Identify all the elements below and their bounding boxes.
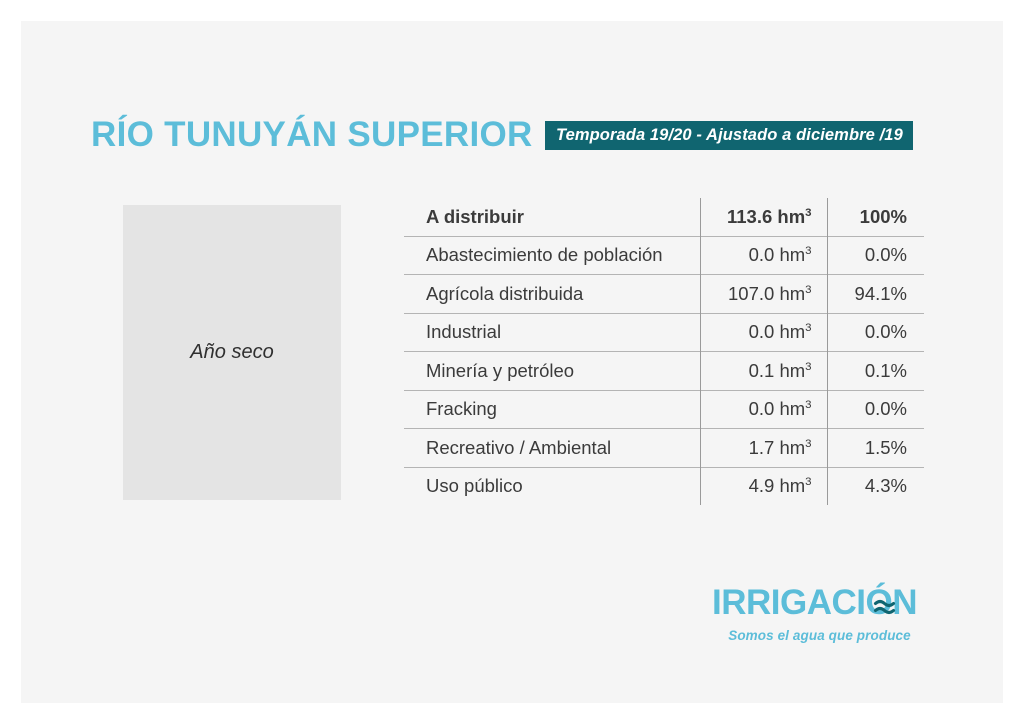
table-cell-volume-value: 0.1 <box>749 360 775 381</box>
table-cell-volume-value: 0.0 <box>749 398 775 419</box>
season-badge-label: Temporada 19/20 - Ajustado a diciembre /… <box>556 126 903 145</box>
table-cell-volume-unit: hm <box>779 321 805 342</box>
table-header-label: A distribuir <box>404 198 701 236</box>
slide-canvas: RÍO TUNUYÁN SUPERIOR Temporada 19/20 - A… <box>21 21 1003 703</box>
logo-tagline: Somos el agua que produce <box>712 628 927 643</box>
table-header-percent: 100% <box>827 198 924 236</box>
table-cell-volume-unit: hm <box>779 437 805 458</box>
table-cell-label: Minería y petróleo <box>404 352 701 391</box>
table-cell-percent: 4.3% <box>827 467 924 505</box>
table-header-volume-value: 113.6 <box>727 206 772 227</box>
table-cell-label: Fracking <box>404 390 701 429</box>
table-cell-volume-unit: hm <box>779 360 805 381</box>
table-cell-percent: 0.0% <box>827 313 924 352</box>
table-cell-volume: 0.0 hm3 <box>701 390 827 429</box>
table-row: Uso público4.9 hm34.3% <box>404 467 924 505</box>
season-badge: Temporada 19/20 - Ajustado a diciembre /… <box>545 121 913 150</box>
table-cell-volume-unit: hm <box>779 283 805 304</box>
table-cell-volume: 4.9 hm3 <box>701 467 827 505</box>
table-row: Minería y petróleo0.1 hm30.1% <box>404 352 924 391</box>
logo-wordmark-text: IRRIGACIÓN <box>712 582 917 622</box>
table-cell-label: Abastecimiento de población <box>404 236 701 275</box>
table-header-volume-exponent: 3 <box>805 207 811 219</box>
table-row: Fracking0.0 hm30.0% <box>404 390 924 429</box>
table-cell-volume-value: 0.0 <box>749 244 775 265</box>
year-type-label: Año seco <box>190 341 273 364</box>
table-cell-volume-value: 4.9 <box>749 475 775 496</box>
table-cell-volume-exponent: 3 <box>805 361 811 373</box>
table-cell-label: Uso público <box>404 467 701 505</box>
table-cell-volume-exponent: 3 <box>805 284 811 296</box>
table-cell-percent: 0.0% <box>827 236 924 275</box>
table-cell-volume-value: 0.0 <box>749 321 775 342</box>
table-row: Industrial0.0 hm30.0% <box>404 313 924 352</box>
table-cell-volume-exponent: 3 <box>805 399 811 411</box>
table-row: Abastecimiento de población0.0 hm30.0% <box>404 236 924 275</box>
table-body: A distribuir 113.6 hm3 100% Abastecimien… <box>404 198 924 505</box>
table-header-volume-unit-text: hm <box>777 206 805 227</box>
table-cell-label: Recreativo / Ambiental <box>404 429 701 468</box>
page-title: RÍO TUNUYÁN SUPERIOR <box>91 104 533 166</box>
organization-logo: IRRIGACIÓN Somos el agua que produce <box>712 581 927 653</box>
table-header-row: A distribuir 113.6 hm3 100% <box>404 198 924 236</box>
water-allocation-table: A distribuir 113.6 hm3 100% Abastecimien… <box>404 198 924 505</box>
logo-wordmark-irrigacion: IRRIGACIÓN <box>712 581 927 625</box>
table-cell-volume-exponent: 3 <box>805 438 811 450</box>
table-cell-percent: 1.5% <box>827 429 924 468</box>
table-cell-volume-value: 1.7 <box>749 437 775 458</box>
table-header-volume: 113.6 hm3 <box>701 198 827 236</box>
table-cell-volume: 1.7 hm3 <box>701 429 827 468</box>
table-cell-volume-unit: hm <box>779 475 805 496</box>
table-cell-volume-unit: hm <box>779 398 805 419</box>
table-cell-percent: 94.1% <box>827 275 924 314</box>
table-cell-volume: 107.0 hm3 <box>701 275 827 314</box>
table-cell-volume-exponent: 3 <box>805 476 811 488</box>
table-cell-label: Industrial <box>404 313 701 352</box>
table-cell-volume-exponent: 3 <box>805 245 811 257</box>
table-row: Recreativo / Ambiental1.7 hm31.5% <box>404 429 924 468</box>
table-cell-volume: 0.1 hm3 <box>701 352 827 391</box>
table-cell-volume-unit: hm <box>779 244 805 265</box>
table-cell-percent: 0.0% <box>827 390 924 429</box>
slide-header: RÍO TUNUYÁN SUPERIOR Temporada 19/20 - A… <box>91 104 981 166</box>
table-row: Agrícola distribuida107.0 hm394.1% <box>404 275 924 314</box>
table-cell-volume: 0.0 hm3 <box>701 313 827 352</box>
table-cell-percent: 0.1% <box>827 352 924 391</box>
year-type-card: Año seco <box>123 205 341 500</box>
table-cell-label: Agrícola distribuida <box>404 275 701 314</box>
table-cell-volume-exponent: 3 <box>805 322 811 334</box>
table-cell-volume-value: 107.0 <box>728 283 774 304</box>
table-cell-volume: 0.0 hm3 <box>701 236 827 275</box>
